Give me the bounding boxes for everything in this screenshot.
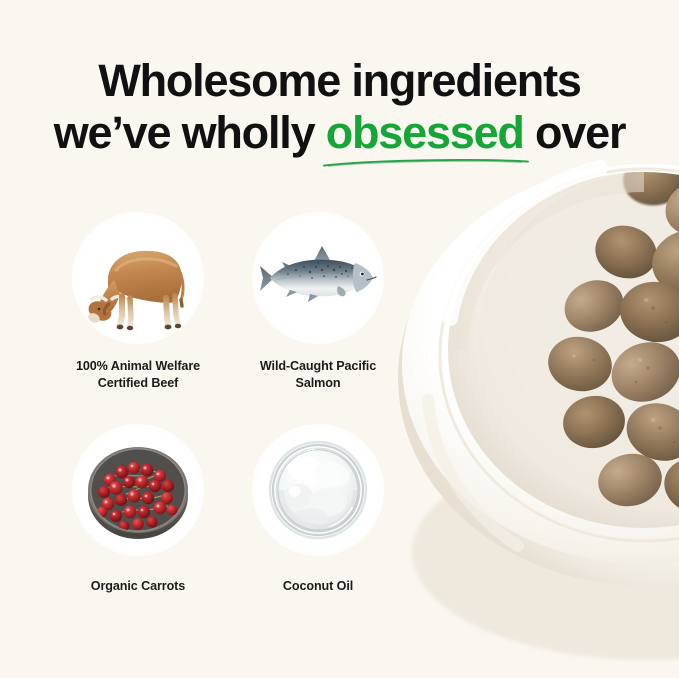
headline-accent-word: obsessed bbox=[326, 107, 524, 159]
ingredient-label-line-1: 100% Animal Welfare bbox=[76, 359, 200, 373]
cow-icon bbox=[72, 212, 204, 344]
cow-hooves bbox=[117, 324, 182, 331]
ingredient-image-disc bbox=[252, 424, 384, 556]
berry-bowl-icon bbox=[72, 424, 204, 556]
headline-line-2-prefix: we’ve wholly bbox=[54, 107, 326, 158]
ingredient-item-beef[interactable]: 100% Animal Welfare Certified Beef bbox=[43, 212, 233, 392]
page-title: Wholesome ingredients we’ve wholly obses… bbox=[0, 55, 679, 159]
fish-head bbox=[353, 263, 373, 292]
ingredient-item-carrots[interactable]: Organic Carrots bbox=[43, 424, 233, 595]
bowl-illustration bbox=[398, 150, 679, 678]
ingredient-label-line-1: Wild-Caught Pacific bbox=[260, 359, 376, 373]
bowl-of-kibble-photo bbox=[398, 150, 679, 678]
ingredient-label-line-1: Coconut Oil bbox=[283, 579, 353, 593]
headline-line-2: we’ve wholly obsessed over bbox=[0, 107, 679, 159]
coconut-oil-jar-icon bbox=[252, 424, 384, 556]
ingredient-item-coconut-oil[interactable]: Coconut Oil bbox=[223, 424, 413, 595]
headline-line-2-suffix: over bbox=[524, 107, 626, 158]
ingredient-label: Organic Carrots bbox=[43, 578, 233, 595]
marketing-banner: Wholesome ingredients we’ve wholly obses… bbox=[0, 0, 679, 678]
fish-dorsal-fin bbox=[314, 246, 330, 261]
ingredient-item-salmon[interactable]: Wild-Caught Pacific Salmon bbox=[223, 212, 413, 392]
ingredient-image-disc bbox=[252, 212, 384, 344]
headline-accent-text: obsessed bbox=[326, 107, 524, 158]
ingredient-label: 100% Animal Welfare Certified Beef bbox=[43, 358, 233, 392]
salmon-fish-icon bbox=[252, 212, 384, 344]
ingredient-image-disc bbox=[72, 212, 204, 344]
headline-line-1: Wholesome ingredients bbox=[0, 55, 679, 107]
ingredient-label-line-1: Organic Carrots bbox=[91, 579, 185, 593]
ingredient-image-disc bbox=[72, 424, 204, 556]
ingredient-label-line-2: Salmon bbox=[296, 376, 341, 390]
ingredient-grid: 100% Animal Welfare Certified Beef bbox=[0, 212, 420, 632]
ingredient-label: Coconut Oil bbox=[223, 578, 413, 595]
ingredient-label: Wild-Caught Pacific Salmon bbox=[223, 358, 413, 392]
ingredient-label-line-2: Certified Beef bbox=[98, 376, 178, 390]
cow-horn-left bbox=[92, 297, 106, 300]
